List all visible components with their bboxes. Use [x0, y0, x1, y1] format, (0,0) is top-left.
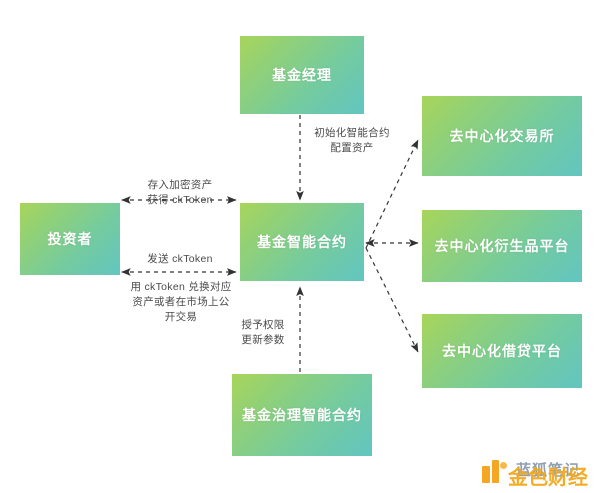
- node-decentralized-lending-platform[interactable]: 去中心化借贷平台: [422, 314, 582, 388]
- node-fund-manager[interactable]: 基金经理: [240, 36, 364, 114]
- watermark: 蓝狐笔记 金色财经: [482, 453, 594, 489]
- node-fund-manager-label: 基金经理: [266, 66, 338, 84]
- edge-label-manager-to-contract: 初始化智能合约 配置资产: [306, 126, 398, 156]
- watermark-primary-label: 金色财经: [508, 468, 588, 488]
- node-fund-smart-contract[interactable]: 基金智能合约: [240, 203, 364, 281]
- node-fund-smart-contract-label: 基金智能合约: [251, 233, 353, 251]
- node-decentralized-lending-platform-label: 去中心化借贷平台: [436, 342, 568, 360]
- edge-contract-to-lending: [366, 248, 418, 352]
- node-decentralized-derivatives-platform[interactable]: 去中心化衍生品平台: [422, 210, 582, 282]
- edge-label-investor-redeem-note: 用 ckToken 兑换对应 资产或者在市场上公 开交易: [122, 280, 240, 326]
- node-investor[interactable]: 投资者: [20, 203, 120, 275]
- node-fund-governance-contract[interactable]: 基金治理智能合约: [232, 374, 372, 456]
- node-decentralized-derivatives-platform-label: 去中心化衍生品平台: [429, 237, 576, 255]
- edge-label-investor-redeem: 发送 ckToken: [126, 252, 234, 267]
- node-investor-label: 投资者: [42, 230, 99, 248]
- node-decentralized-exchange-label: 去中心化交易所: [444, 127, 561, 145]
- edge-label-investor-deposit: 存入加密资产 获得 ckToken: [126, 178, 234, 208]
- diagram-canvas: 基金经理 投资者 基金智能合约 基金治理智能合约 去中心化交易所 去中心化衍生品…: [0, 0, 600, 493]
- watermark-logo-icon: [482, 460, 508, 486]
- edge-label-governance-to-contract: 授予权限 更新参数: [232, 318, 294, 348]
- node-decentralized-exchange[interactable]: 去中心化交易所: [422, 96, 582, 176]
- node-fund-governance-contract-label: 基金治理智能合约: [236, 406, 368, 424]
